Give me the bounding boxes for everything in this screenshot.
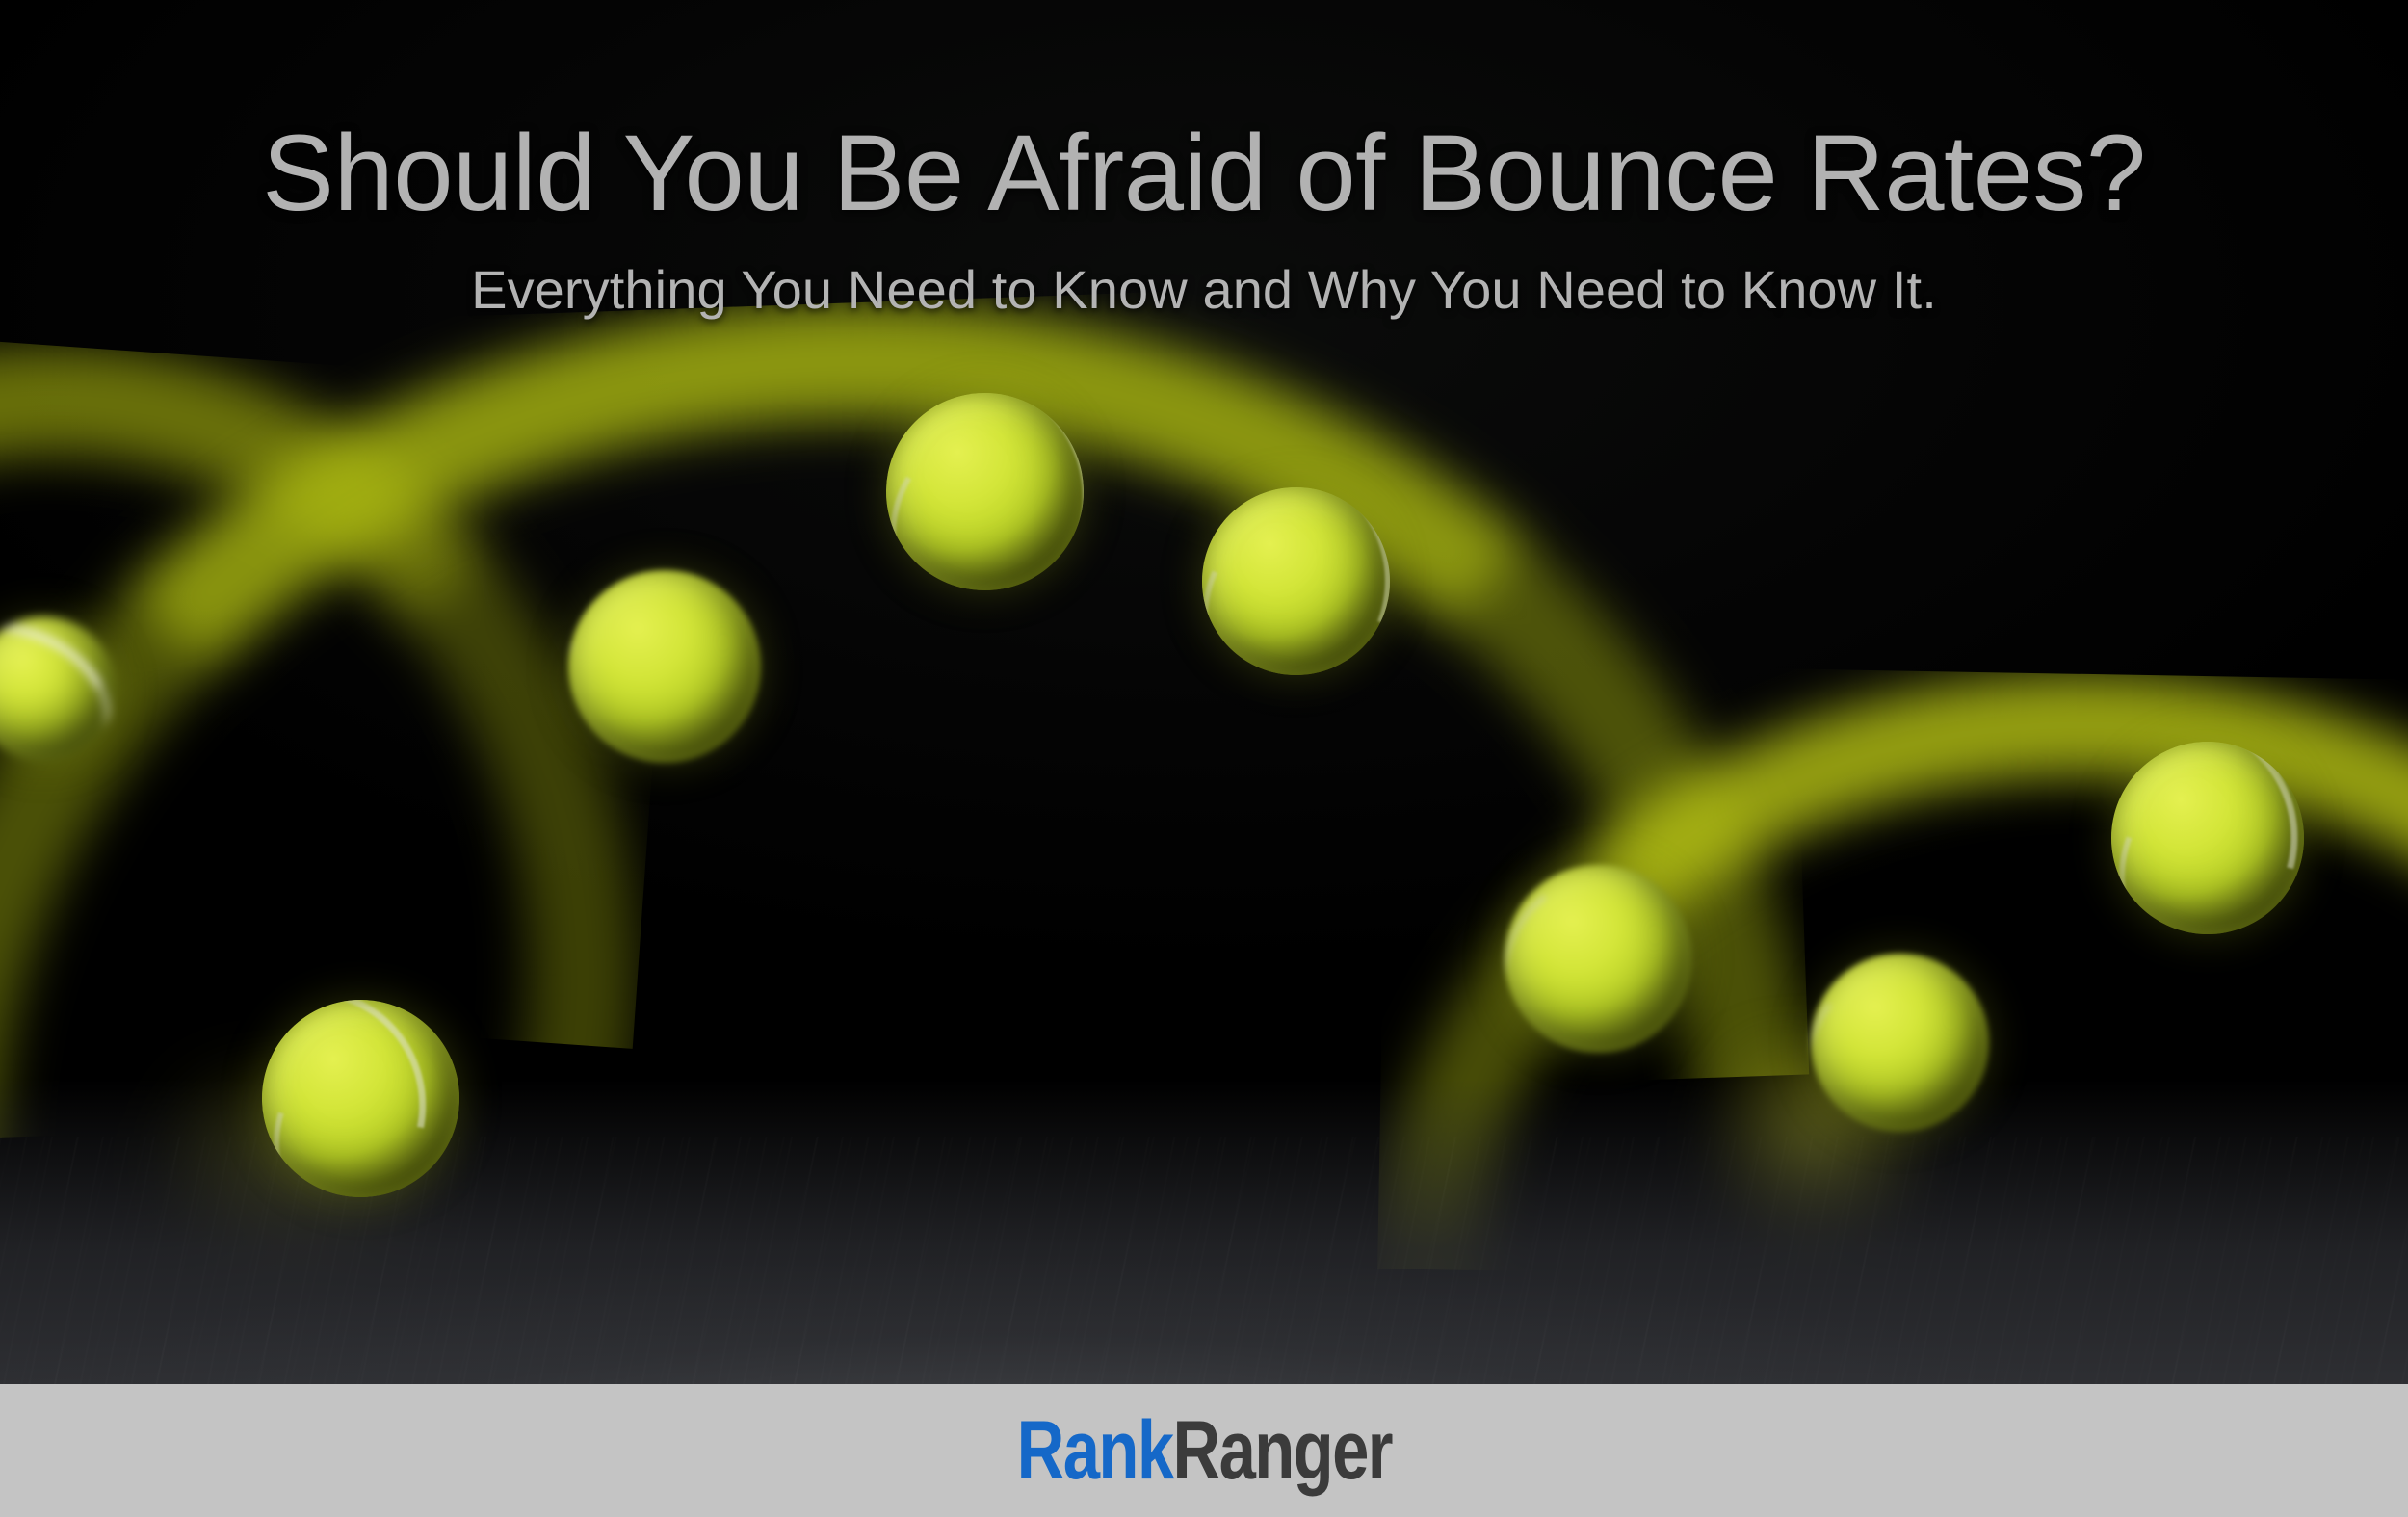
logo-text-ranger: Ranger — [1172, 1404, 1391, 1497]
tennis-ball-left-mid-rising — [568, 570, 761, 763]
rank-ranger-logo[interactable]: RankRanger — [1016, 1409, 1391, 1492]
tennis-ball-far-right-rising — [2111, 742, 2304, 934]
ball-seam — [568, 570, 761, 763]
tennis-ball-left-edge-partial — [0, 616, 116, 761]
ball-seam — [0, 616, 116, 761]
ball-seam-secondary — [886, 396, 1084, 590]
headline-block: Should You Be Afraid of Bounce Rates? Ev… — [0, 116, 2408, 322]
tennis-ball-right-of-apex — [1202, 487, 1390, 675]
hero-banner: Should You Be Afraid of Bounce Rates? Ev… — [0, 0, 2408, 1517]
ball-seam — [886, 393, 1084, 590]
page-subtitle: Everything You Need to Know and Why You … — [0, 257, 2408, 322]
logo-text-rank: Rank — [1016, 1404, 1172, 1497]
tennis-ball-descending-right — [1505, 865, 1692, 1053]
ball-seam-secondary — [1811, 954, 1989, 1132]
ball-seam-secondary — [2111, 742, 2304, 934]
ball-seam-secondary — [1202, 487, 1390, 675]
ball-seam-secondary — [568, 570, 761, 763]
page-title: Should You Be Afraid of Bounce Rates? — [0, 116, 2408, 232]
ball-seam — [2111, 742, 2304, 934]
ball-seam-secondary — [1505, 865, 1692, 1053]
tennis-ball-valley-right — [1811, 954, 1989, 1132]
ball-seam-secondary — [262, 1000, 459, 1197]
ball-seam — [1505, 865, 1692, 1053]
footer-bar: RankRanger — [0, 1384, 2408, 1517]
ball-seam — [1202, 487, 1390, 675]
ball-seam — [1811, 954, 1989, 1132]
ball-seam — [262, 1000, 459, 1197]
tennis-ball-apex-center — [886, 393, 1084, 590]
tennis-ball-left-low — [262, 1000, 459, 1197]
